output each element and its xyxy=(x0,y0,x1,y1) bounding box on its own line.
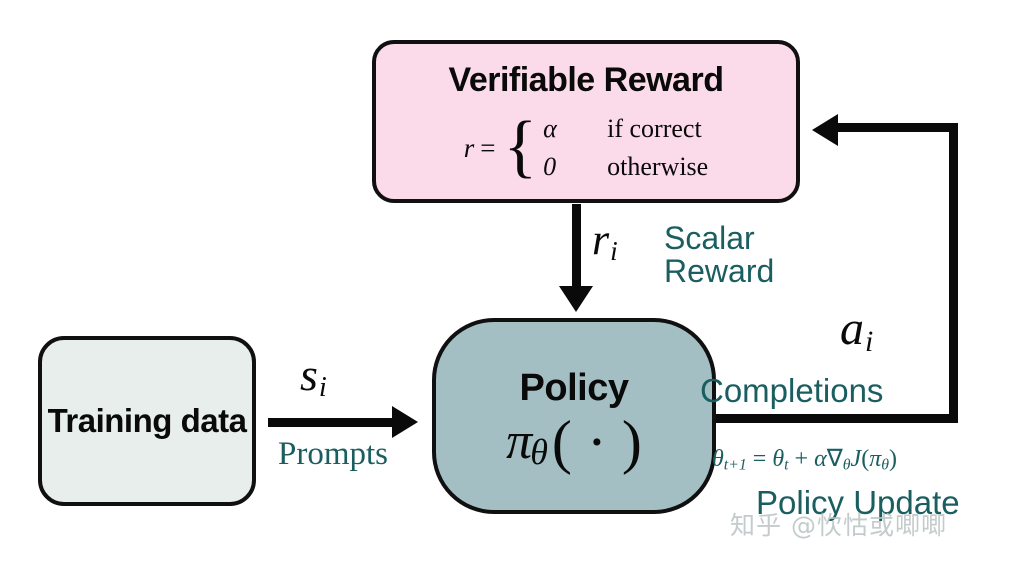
completions-symbol: ai xyxy=(840,305,873,356)
prompts-symbol: si xyxy=(300,352,327,403)
completions-symbol-subscript: i xyxy=(865,325,873,358)
reward-formula-equals: = xyxy=(480,133,495,164)
policy-update-formula: θt+1 = θt + α∇θJ(πθ) xyxy=(712,444,897,474)
policy-formula-subscript: θ xyxy=(530,434,548,470)
scalar-reward-label: Scalar Reward xyxy=(664,222,774,287)
training-data-node: Training data xyxy=(38,336,256,506)
policy-update-theta2-subscript: t xyxy=(784,456,788,473)
policy-update-equals: = xyxy=(753,446,767,472)
reward-case-value: α xyxy=(543,110,607,148)
policy-update-nabla-subscript: θ xyxy=(843,456,851,473)
policy-to-reward-loop-bottom-segment xyxy=(716,414,958,423)
policy-update-theta: θ xyxy=(712,446,724,472)
training-data-label: Training data xyxy=(48,402,247,441)
verifiable-reward-node: Verifiable Reward r = { α if correct 0 o… xyxy=(372,40,800,203)
reward-to-policy-arrow-line xyxy=(572,204,581,292)
reward-case-value: 0 xyxy=(543,148,607,186)
scalar-reward-symbol-subscript: i xyxy=(610,236,618,266)
policy-update-alpha: α xyxy=(814,446,827,472)
reward-formula-brace: { xyxy=(504,120,538,175)
policy-node: Policy πθ( · ) xyxy=(432,318,716,514)
policy-formula: πθ( · ) xyxy=(506,412,642,472)
policy-update-pi: π xyxy=(869,446,881,472)
reward-case-condition: otherwise xyxy=(607,148,708,186)
policy-update-pi-subscript: θ xyxy=(881,456,889,473)
reward-formula: r = { α if correct 0 otherwise xyxy=(464,110,708,185)
policy-to-reward-loop-right-segment xyxy=(949,123,958,423)
scalar-reward-symbol-base: r xyxy=(592,215,609,264)
scalar-reward-label-line2: Reward xyxy=(664,255,774,288)
policy-formula-argument: ( · ) xyxy=(552,412,642,472)
policy-update-objective: J xyxy=(851,446,862,472)
completions-symbol-base: a xyxy=(840,302,864,355)
scalar-reward-label-line1: Scalar xyxy=(664,222,774,255)
prompts-symbol-subscript: i xyxy=(319,372,327,403)
prompts-label: Prompts xyxy=(278,438,388,472)
reward-formula-lhs: r xyxy=(464,133,475,164)
policy-update-open-paren: ( xyxy=(861,446,869,472)
scalar-reward-symbol: ri xyxy=(592,218,618,265)
policy-update-theta-subscript: t+1 xyxy=(724,456,747,473)
zhihu-watermark: 知乎 @忺怙或唧唧 xyxy=(730,506,947,542)
training-to-policy-arrowhead xyxy=(392,406,418,438)
training-to-policy-arrow-line xyxy=(268,418,402,427)
policy-update-close-paren: ) xyxy=(889,446,897,472)
reward-to-policy-arrowhead xyxy=(559,286,593,312)
diagram-canvas: Verifiable Reward r = { α if correct 0 o… xyxy=(0,0,1024,562)
reward-case-row: 0 otherwise xyxy=(543,148,708,186)
completions-label: Completions xyxy=(700,374,883,408)
policy-to-reward-loop-top-segment xyxy=(830,123,958,132)
reward-case-condition: if correct xyxy=(607,110,702,148)
policy-formula-pi: π xyxy=(506,416,532,468)
verifiable-reward-title: Verifiable Reward xyxy=(449,61,724,100)
prompts-symbol-base: s xyxy=(300,349,318,400)
policy-update-plus: + xyxy=(795,446,809,472)
policy-to-reward-arrowhead xyxy=(812,114,838,146)
policy-title: Policy xyxy=(520,367,629,410)
policy-update-nabla: ∇ xyxy=(827,446,843,472)
policy-update-theta2: θ xyxy=(772,446,784,472)
reward-case-row: α if correct xyxy=(543,110,708,148)
reward-formula-cases: α if correct 0 otherwise xyxy=(543,110,708,185)
